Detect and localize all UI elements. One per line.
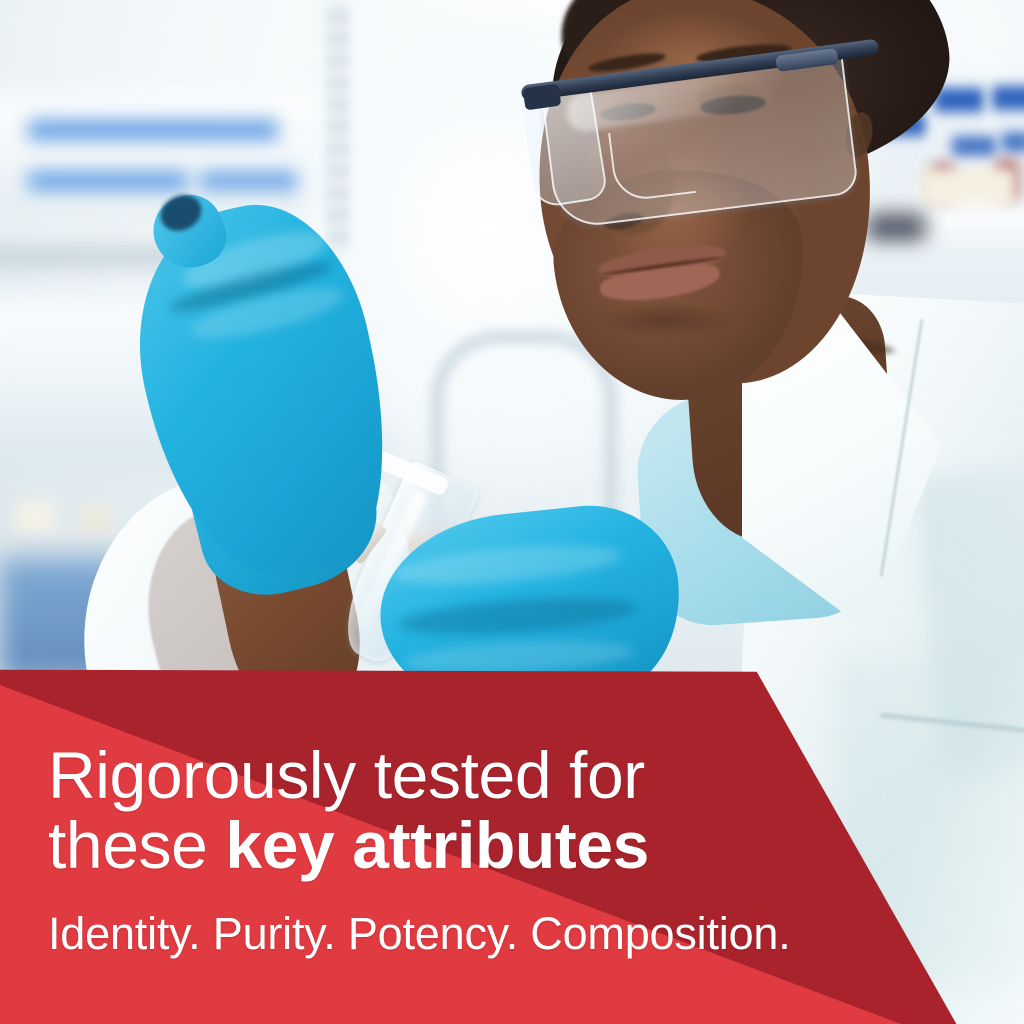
banner-text-block: Rigorously tested for these key attribut…	[48, 740, 808, 958]
banner-headline: Rigorously tested for these key attribut…	[48, 740, 808, 880]
promo-banner-image: Rigorously tested for these key attribut…	[0, 0, 1024, 1024]
lab-coat-fold-b	[840, 660, 1020, 980]
banner-subline: Identity. Purity. Potency. Composition.	[48, 880, 808, 958]
headline-line-1: Rigorously tested for	[48, 738, 645, 812]
headline-line-2-normal: these	[48, 808, 225, 882]
chin-shadow	[596, 302, 736, 338]
headline-line-2-bold: key attributes	[225, 808, 649, 882]
